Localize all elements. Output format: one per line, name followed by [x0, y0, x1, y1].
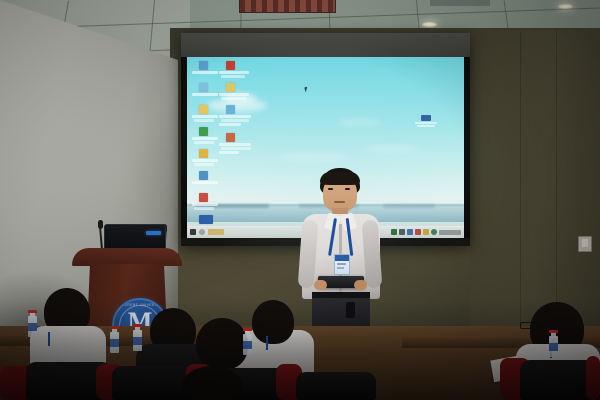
system-tray	[391, 229, 461, 235]
start-button-icon[interactable]	[190, 229, 196, 235]
battery-icon[interactable]	[407, 229, 413, 235]
presenter-pocket	[346, 302, 355, 318]
presenter-hand-left	[314, 280, 327, 290]
presenter-fringe	[320, 172, 360, 185]
water-bottle[interactable]	[243, 328, 252, 355]
search-icon[interactable]	[199, 229, 205, 235]
laptop-screen-highlight	[146, 231, 161, 235]
presenter-mouth	[334, 201, 345, 203]
badge-header	[335, 255, 349, 261]
presenter-hand-right	[354, 280, 367, 290]
attendee-lanyard	[266, 336, 268, 350]
volume-icon[interactable]	[399, 229, 405, 235]
desktop-icon[interactable]	[219, 105, 259, 129]
attendee-lanyard	[48, 332, 50, 346]
downlight-icon	[558, 4, 573, 9]
wall-seam	[520, 32, 521, 328]
presenter-belt	[312, 292, 370, 298]
cloud	[337, 119, 381, 126]
water-bottle[interactable]	[28, 310, 37, 337]
presentation-photo: MAKERERE UNIVERSITY M CONFERENCE HALL	[0, 0, 600, 400]
cloud	[363, 145, 419, 152]
desktop-icon[interactable]	[219, 83, 259, 101]
chair-back[interactable]	[296, 372, 376, 400]
name-badge	[334, 254, 350, 275]
update-icon[interactable]	[431, 229, 437, 235]
attendee-head	[196, 318, 248, 370]
desktop-icon[interactable]	[192, 171, 250, 189]
eyeglasses-icon	[520, 322, 538, 329]
distant-land	[383, 204, 435, 208]
water-bottle[interactable]	[133, 324, 142, 351]
attendee-head	[252, 300, 294, 344]
desktop-gadget-icon[interactable]	[415, 115, 437, 129]
presenter-eye-left	[328, 188, 333, 190]
wall-seam	[556, 30, 557, 328]
folder-icon[interactable]	[208, 229, 224, 235]
desktop-icon[interactable]	[219, 61, 259, 79]
desktop-icon-column-2	[219, 61, 259, 161]
light-switch-icon[interactable]	[578, 236, 592, 252]
taskbar-start-area	[190, 229, 224, 235]
ceiling-panel	[430, 0, 490, 6]
water-bottle[interactable]	[110, 326, 119, 353]
downlight-icon	[422, 22, 437, 27]
attendee-head	[182, 366, 242, 400]
lectern-top	[72, 248, 182, 266]
badge-line	[337, 267, 344, 269]
network-icon[interactable]	[391, 229, 397, 235]
clock[interactable]	[439, 230, 461, 235]
water-bottle[interactable]	[549, 330, 558, 357]
shield-icon[interactable]	[423, 229, 429, 235]
screen-top-border	[181, 33, 470, 57]
mouse-cursor-icon	[304, 87, 308, 93]
chair-armrest[interactable]	[586, 356, 600, 400]
badge-line	[337, 263, 346, 265]
presenter-eye-right	[345, 188, 350, 190]
air-vent-icon	[239, 0, 336, 13]
microphone-icon	[98, 220, 103, 229]
desktop-icon[interactable]	[219, 133, 259, 157]
cloud	[279, 153, 349, 161]
ime-icon[interactable]	[415, 229, 421, 235]
desktop-icon[interactable]	[192, 193, 250, 211]
right-wall	[470, 30, 600, 330]
